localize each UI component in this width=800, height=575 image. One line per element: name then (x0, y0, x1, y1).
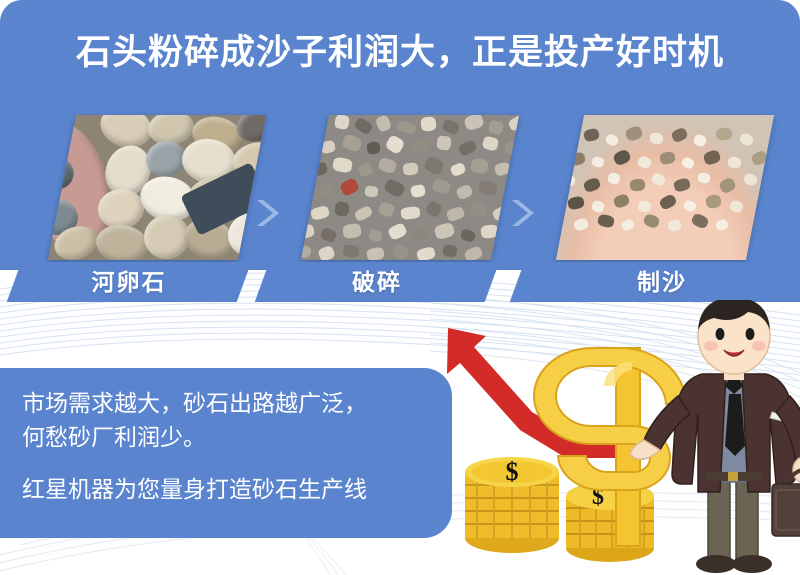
step-photo-manufactured-sand (556, 115, 774, 260)
svg-text:$: $ (506, 457, 519, 486)
message-line-2: 何愁砂厂利润少。 (22, 420, 452, 454)
chevron-right-icon (253, 196, 287, 230)
step-label-3: 制沙 (510, 262, 800, 302)
step-label-band: 河卵石 破碎 制沙 (0, 262, 800, 302)
step-photo-river-pebbles (48, 115, 266, 260)
step-label-1: 河卵石 (7, 262, 252, 302)
illustration-group: $ $ (420, 300, 800, 575)
step-label-3-text: 制沙 (517, 262, 800, 302)
river-pebbles-image (48, 115, 266, 260)
businessman-figure (630, 300, 800, 573)
header-block: 石头粉碎成沙子利润大，正是投产好时机 (0, 0, 800, 270)
promo-poster: 石头粉碎成沙子利润大，正是投产好时机 (0, 0, 800, 575)
message-panel: 市场需求越大，砂石出路越广泛， 何愁砂厂利润少。 红星机器为您量身打造砂石生产线 (0, 368, 452, 538)
message-line-1: 市场需求越大，砂石出路越广泛， (22, 368, 452, 420)
manufactured-sand-image (556, 115, 774, 260)
step-label-2: 破碎 (255, 262, 500, 302)
gold-coin-stack-icon: $ (465, 457, 559, 553)
step-label-1-text: 河卵石 (14, 262, 244, 302)
page-title: 石头粉碎成沙子利润大，正是投产好时机 (0, 24, 800, 75)
crushed-gravel-image (301, 115, 519, 260)
step-label-2-text: 破碎 (262, 262, 492, 302)
chevron-right-icon (508, 196, 542, 230)
message-line-3: 红星机器为您量身打造砂石生产线 (22, 454, 452, 506)
step-photo-crushed-gravel (301, 115, 519, 260)
